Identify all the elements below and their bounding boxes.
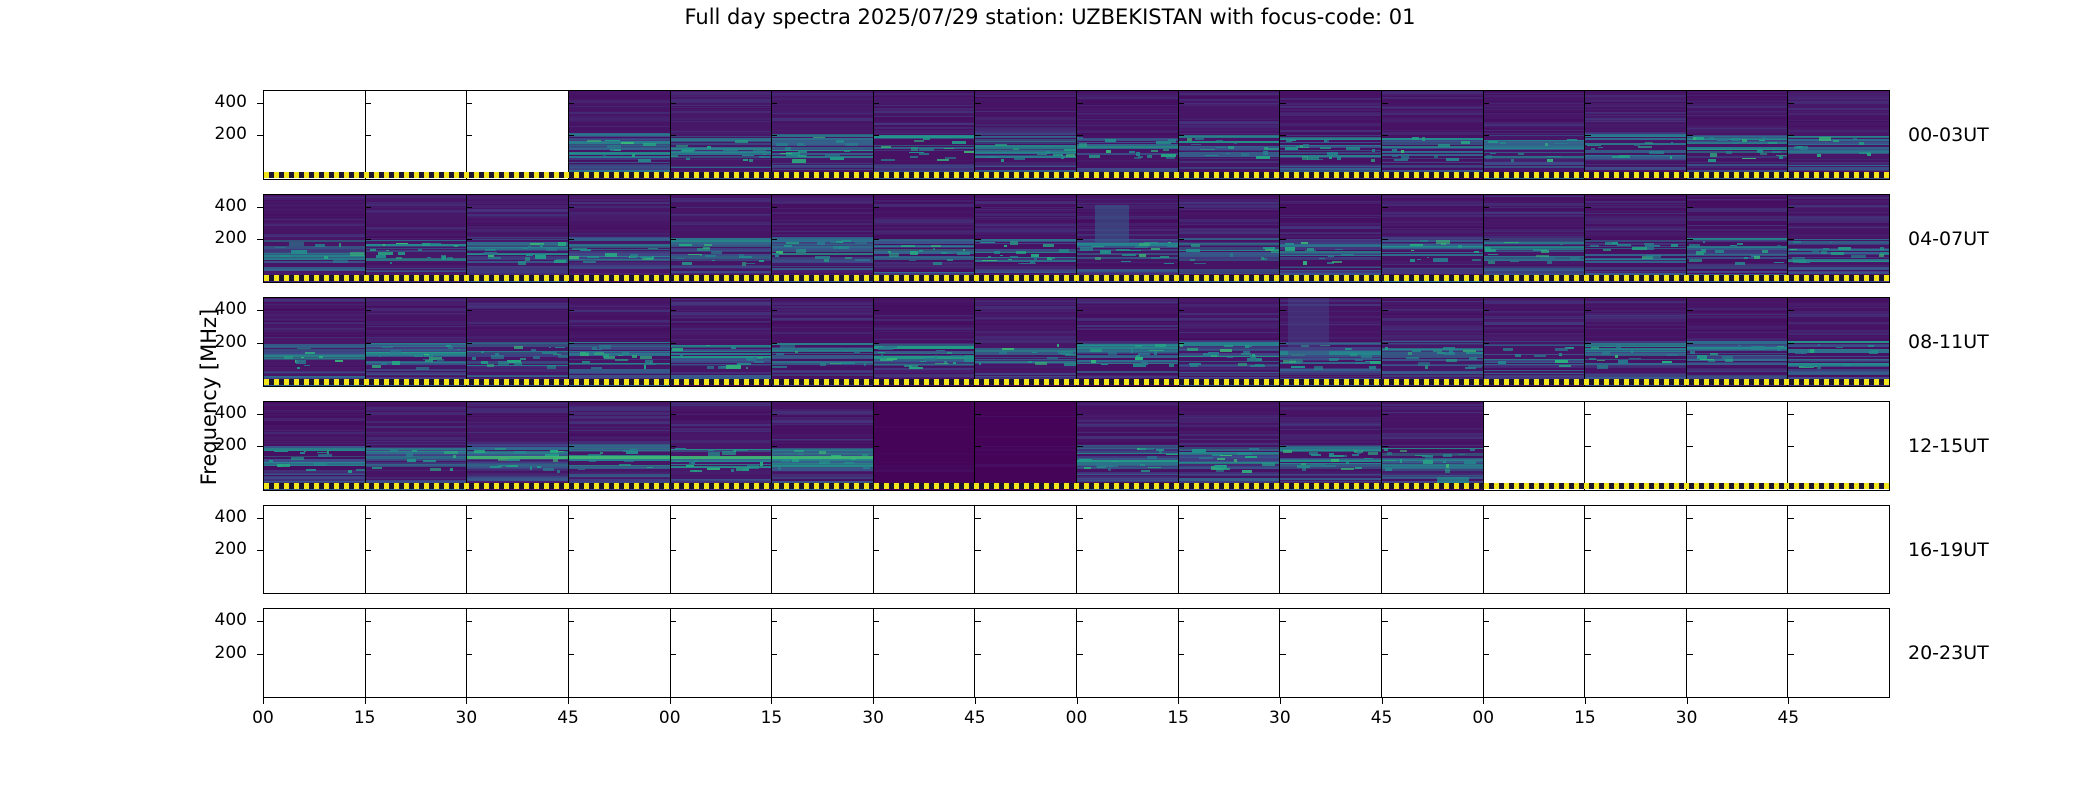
spectra-panel[interactable] — [1280, 506, 1382, 594]
spectra-panel[interactable] — [467, 402, 569, 490]
x-tick-mark — [975, 698, 976, 704]
panel-tick-nub — [568, 446, 574, 447]
panel-tick-nub — [1382, 550, 1388, 551]
y-tick-label: 200 — [187, 126, 247, 143]
panel-tick-nub — [466, 239, 472, 240]
x-tick-label: 15 — [1148, 710, 1208, 727]
spectra-panel[interactable] — [1280, 402, 1382, 490]
panel-tick-nub — [873, 518, 879, 519]
spectra-panel[interactable] — [467, 609, 569, 697]
y-tick-label: 200 — [187, 645, 247, 662]
spectra-panel[interactable] — [975, 609, 1077, 697]
spectra-panel[interactable] — [366, 609, 468, 697]
panel-tick-nub — [1585, 239, 1591, 240]
x-tick-mark — [1687, 698, 1688, 704]
panel-tick-nub — [1178, 207, 1184, 208]
panel-tick-nub — [1788, 550, 1794, 551]
panel-tick-nub — [1280, 518, 1286, 519]
panel-tick-nub — [873, 239, 879, 240]
spectra-panel[interactable] — [1585, 195, 1687, 283]
row-label-16-19ut: 16-19UT — [1908, 541, 1989, 560]
spectra-image — [772, 195, 873, 283]
panel-tick-nub — [771, 446, 777, 447]
spectra-image — [569, 402, 670, 490]
x-tick-mark — [568, 698, 569, 704]
panel-tick-nub — [365, 239, 371, 240]
spectra-panel[interactable] — [1484, 402, 1586, 490]
spectra-panel[interactable] — [1280, 298, 1382, 386]
spectra-panel[interactable] — [264, 195, 366, 283]
spectra-panel[interactable] — [264, 609, 366, 697]
panel-tick-nub — [1585, 135, 1591, 136]
spectra-panel[interactable] — [1382, 506, 1484, 594]
spectra-image — [1788, 298, 1889, 386]
spectra-image — [1382, 402, 1483, 490]
panel-tick-nub — [568, 310, 574, 311]
x-tick-mark — [1077, 698, 1078, 704]
spectra-panel[interactable] — [1585, 609, 1687, 697]
spectra-panel[interactable] — [1585, 298, 1687, 386]
spectra-panel[interactable] — [1280, 91, 1382, 179]
spectra-panel[interactable] — [1382, 402, 1484, 490]
panel-tick-nub — [1483, 621, 1489, 622]
panel-tick-nub — [771, 103, 777, 104]
y-tick-label: 400 — [187, 405, 247, 422]
panel-tick-nub — [1483, 414, 1489, 415]
spectra-panel[interactable] — [1382, 91, 1484, 179]
spectra-panel[interactable] — [467, 506, 569, 594]
panel-tick-nub — [975, 239, 981, 240]
spectra-image — [1280, 402, 1381, 490]
x-tick-mark — [1483, 698, 1484, 704]
panel-tick-nub — [1077, 518, 1083, 519]
spectra-panel[interactable] — [772, 195, 874, 283]
panel-tick-nub — [771, 654, 777, 655]
y-tick-mark — [257, 550, 263, 551]
x-tick-label: 00 — [640, 710, 700, 727]
spectra-image — [1484, 195, 1585, 283]
spectra-panel[interactable] — [467, 195, 569, 283]
spectra-panel[interactable] — [975, 195, 1077, 283]
spectra-panel[interactable] — [874, 506, 976, 594]
spectra-panel[interactable] — [1788, 195, 1889, 283]
panel-tick-nub — [365, 310, 371, 311]
data-availability-marker-bar — [264, 172, 1889, 178]
spectra-panel[interactable] — [366, 91, 468, 179]
spectra-image — [975, 298, 1076, 386]
spectra-panel[interactable] — [569, 402, 671, 490]
spectra-image — [1788, 195, 1889, 283]
panel-tick-nub — [1585, 207, 1591, 208]
spectra-panel[interactable] — [1788, 506, 1889, 594]
spectra-image — [874, 402, 975, 490]
panel-tick-nub — [365, 414, 371, 415]
spectra-panel[interactable] — [874, 195, 976, 283]
panel-tick-nub — [1077, 621, 1083, 622]
spectra-panel[interactable] — [975, 91, 1077, 179]
spectra-panel[interactable] — [1484, 91, 1586, 179]
panel-tick-nub — [1585, 446, 1591, 447]
spectra-panel[interactable] — [1585, 402, 1687, 490]
spectra-panel[interactable] — [1179, 298, 1281, 386]
spectra-panel[interactable] — [1687, 609, 1789, 697]
panel-tick-nub — [1280, 310, 1286, 311]
y-tick-mark — [257, 343, 263, 344]
y-tick-label: 200 — [187, 437, 247, 454]
spectra-image — [1382, 91, 1483, 179]
spectra-panel[interactable] — [671, 609, 773, 697]
panel-tick-nub — [568, 239, 574, 240]
spectra-panel[interactable] — [671, 402, 773, 490]
panel-tick-nub — [1178, 310, 1184, 311]
spectra-panel[interactable] — [569, 91, 671, 179]
spectra-panel[interactable] — [366, 195, 468, 283]
spectra-panel[interactable] — [671, 195, 773, 283]
spectra-panel[interactable] — [1484, 609, 1586, 697]
y-tick-label: 400 — [187, 301, 247, 318]
data-availability-marker-bar — [264, 483, 1889, 489]
y-tick-label: 400 — [187, 509, 247, 526]
panel-tick-nub — [1483, 135, 1489, 136]
panel-tick-nub — [1788, 135, 1794, 136]
data-availability-marker-bar — [264, 275, 1889, 281]
spectra-panel[interactable] — [1687, 298, 1789, 386]
panel-tick-nub — [1788, 654, 1794, 655]
spectra-image — [1077, 298, 1178, 386]
spectra-panel[interactable] — [569, 506, 671, 594]
panel-tick-nub — [1178, 135, 1184, 136]
spectra-panel[interactable] — [1077, 402, 1179, 490]
panel-tick-nub — [568, 343, 574, 344]
panel-tick-nub — [771, 621, 777, 622]
spectra-panel[interactable] — [1077, 91, 1179, 179]
spectra-panel[interactable] — [975, 506, 1077, 594]
panel-tick-nub — [1280, 654, 1286, 655]
panel-tick-nub — [771, 310, 777, 311]
panel-tick-nub — [873, 103, 879, 104]
panel-tick-nub — [1687, 654, 1693, 655]
panel-tick-nub — [1077, 103, 1083, 104]
panel-tick-nub — [1382, 518, 1388, 519]
spectra-panel[interactable] — [1788, 402, 1889, 490]
panel-tick-nub — [670, 135, 676, 136]
panel-tick-nub — [1788, 207, 1794, 208]
spectra-image — [1179, 298, 1280, 386]
panel-tick-nub — [365, 621, 371, 622]
spectra-panel[interactable] — [1687, 402, 1789, 490]
spectra-panel[interactable] — [671, 298, 773, 386]
panel-tick-nub — [975, 135, 981, 136]
y-tick-mark — [257, 446, 263, 447]
spectra-panel[interactable] — [264, 91, 366, 179]
spectra-image — [366, 402, 467, 490]
panel-tick-nub — [1280, 135, 1286, 136]
spectra-panel[interactable] — [467, 91, 569, 179]
panel-tick-nub — [1788, 414, 1794, 415]
panel-tick-nub — [1077, 310, 1083, 311]
panel-tick-nub — [1382, 239, 1388, 240]
panel-tick-nub — [670, 310, 676, 311]
spectra-image — [467, 402, 568, 490]
panel-tick-nub — [1382, 654, 1388, 655]
spectra-image — [1585, 298, 1686, 386]
spectra-panel[interactable] — [772, 91, 874, 179]
panel-tick-nub — [1178, 550, 1184, 551]
x-tick-mark — [1280, 698, 1281, 704]
panel-tick-nub — [466, 103, 472, 104]
panel-tick-nub — [466, 343, 472, 344]
spectra-panel[interactable] — [1382, 195, 1484, 283]
panel-tick-nub — [466, 518, 472, 519]
panel-tick-nub — [975, 518, 981, 519]
panel-tick-nub — [1077, 414, 1083, 415]
spectra-image — [1280, 298, 1381, 386]
spectra-image — [975, 195, 1076, 283]
spectra-image — [569, 298, 670, 386]
spectra-image — [366, 195, 467, 283]
panel-tick-nub — [365, 518, 371, 519]
spectra-panel[interactable] — [874, 91, 976, 179]
x-tick-label: 45 — [945, 710, 1005, 727]
spectra-image — [366, 298, 467, 386]
spectra-panel[interactable] — [772, 402, 874, 490]
panel-tick-nub — [975, 550, 981, 551]
spectra-image — [1077, 91, 1178, 179]
panel-tick-nub — [1687, 621, 1693, 622]
x-tick-label: 15 — [1555, 710, 1615, 727]
panel-tick-nub — [1788, 343, 1794, 344]
spectra-panel[interactable] — [264, 298, 366, 386]
panel-tick-nub — [771, 207, 777, 208]
spectra-panel[interactable] — [1788, 298, 1889, 386]
spectra-panel[interactable] — [1179, 91, 1281, 179]
x-tick-label: 00 — [233, 710, 293, 727]
spectra-image — [1179, 91, 1280, 179]
spectra-panel[interactable] — [975, 402, 1077, 490]
spectra-panel[interactable] — [366, 402, 468, 490]
spectra-image — [1788, 91, 1889, 179]
panel-tick-nub — [1483, 239, 1489, 240]
spectra-image — [1280, 195, 1381, 283]
y-tick-mark — [257, 239, 263, 240]
panel-tick-nub — [568, 550, 574, 551]
panel-tick-nub — [670, 414, 676, 415]
spectra-panel[interactable] — [1280, 609, 1382, 697]
panel-tick-nub — [1382, 414, 1388, 415]
y-tick-mark — [257, 414, 263, 415]
panel-tick-nub — [873, 446, 879, 447]
panel-tick-nub — [975, 654, 981, 655]
panel-tick-nub — [466, 135, 472, 136]
spectra-image — [1484, 298, 1585, 386]
panel-tick-nub — [1382, 446, 1388, 447]
spectra-panel[interactable] — [975, 298, 1077, 386]
x-tick-mark — [466, 698, 467, 704]
spectra-panel[interactable] — [1585, 506, 1687, 594]
spectra-panel[interactable] — [264, 506, 366, 594]
panel-tick-nub — [466, 446, 472, 447]
panel-tick-nub — [1585, 310, 1591, 311]
row-label-08-11ut: 08-11UT — [1908, 333, 1989, 352]
panel-tick-nub — [670, 518, 676, 519]
panel-tick-nub — [1280, 446, 1286, 447]
x-tick-label: 15 — [741, 710, 801, 727]
spectra-image — [1687, 91, 1788, 179]
panel-tick-nub — [1178, 239, 1184, 240]
spectra-panel[interactable] — [264, 402, 366, 490]
spectra-panel[interactable] — [1179, 402, 1281, 490]
spectra-panel[interactable] — [772, 506, 874, 594]
spectra-panel[interactable] — [1179, 506, 1281, 594]
panel-tick-nub — [365, 550, 371, 551]
spectra-panel[interactable] — [874, 298, 976, 386]
panel-tick-nub — [1280, 207, 1286, 208]
spectra-panel[interactable] — [1687, 91, 1789, 179]
spectra-image — [1077, 195, 1178, 283]
panel-tick-nub — [1077, 135, 1083, 136]
panel-tick-nub — [873, 621, 879, 622]
y-tick-mark — [257, 103, 263, 104]
panel-tick-nub — [1382, 343, 1388, 344]
spectra-image — [975, 402, 1076, 490]
panel-tick-nub — [975, 621, 981, 622]
spectra-panel[interactable] — [1077, 298, 1179, 386]
spectra-panel[interactable] — [1382, 298, 1484, 386]
row-label-20-23ut: 20-23UT — [1908, 644, 1989, 663]
panel-tick-nub — [1280, 343, 1286, 344]
spectra-panel[interactable] — [772, 298, 874, 386]
panel-tick-nub — [873, 207, 879, 208]
spectra-image — [874, 91, 975, 179]
panel-tick-nub — [1077, 446, 1083, 447]
spectra-image — [1687, 298, 1788, 386]
panel-tick-nub — [873, 343, 879, 344]
panel-tick-nub — [1585, 518, 1591, 519]
panel-tick-nub — [873, 135, 879, 136]
spectra-image — [671, 402, 772, 490]
spectra-panel[interactable] — [671, 91, 773, 179]
spectra-panel[interactable] — [467, 298, 569, 386]
spectra-panel[interactable] — [569, 195, 671, 283]
panel-tick-nub — [1788, 239, 1794, 240]
panel-tick-nub — [771, 550, 777, 551]
spectra-image — [671, 195, 772, 283]
spectra-image — [1077, 402, 1178, 490]
spectra-image — [264, 402, 365, 490]
spectra-image — [1382, 195, 1483, 283]
spectra-panel[interactable] — [1179, 195, 1281, 283]
spectra-panel[interactable] — [1179, 609, 1281, 697]
panel-tick-nub — [670, 550, 676, 551]
panel-tick-nub — [1483, 550, 1489, 551]
panel-tick-nub — [873, 414, 879, 415]
x-tick-label: 45 — [1352, 710, 1412, 727]
x-tick-mark — [1382, 698, 1383, 704]
x-tick-label: 00 — [1453, 710, 1513, 727]
spectra-panel[interactable] — [1077, 609, 1179, 697]
panel-tick-nub — [1687, 135, 1693, 136]
spectra-panel[interactable] — [772, 609, 874, 697]
spectra-panel[interactable] — [1077, 506, 1179, 594]
spectra-image — [569, 91, 670, 179]
panel-tick-nub — [873, 310, 879, 311]
row-label-12-15ut: 12-15UT — [1908, 437, 1989, 456]
panel-tick-nub — [466, 310, 472, 311]
y-tick-mark — [257, 310, 263, 311]
panel-tick-nub — [568, 207, 574, 208]
panel-tick-nub — [1687, 239, 1693, 240]
panel-tick-nub — [1077, 343, 1083, 344]
panel-tick-nub — [1280, 550, 1286, 551]
spectra-panel[interactable] — [1788, 609, 1889, 697]
spectra-panel[interactable] — [1585, 91, 1687, 179]
panel-tick-nub — [568, 103, 574, 104]
spectra-image — [671, 91, 772, 179]
spectra-image — [569, 195, 670, 283]
x-tick-label: 15 — [335, 710, 395, 727]
spectra-image — [772, 91, 873, 179]
panel-tick-nub — [1687, 550, 1693, 551]
panel-tick-nub — [1077, 239, 1083, 240]
panel-tick-nub — [1280, 621, 1286, 622]
panel-tick-nub — [771, 343, 777, 344]
panel-tick-nub — [1382, 621, 1388, 622]
spectra-panel[interactable] — [366, 506, 468, 594]
x-tick-mark — [1585, 698, 1586, 704]
y-tick-mark — [257, 654, 263, 655]
spectra-panel[interactable] — [569, 609, 671, 697]
spectra-panel[interactable] — [569, 298, 671, 386]
spectra-panel[interactable] — [1687, 506, 1789, 594]
panel-tick-nub — [568, 621, 574, 622]
spectra-panel[interactable] — [1788, 91, 1889, 179]
panel-tick-nub — [670, 103, 676, 104]
spectra-image — [1179, 402, 1280, 490]
panel-tick-nub — [1788, 103, 1794, 104]
spectra-panel[interactable] — [1077, 195, 1179, 283]
spectra-panel[interactable] — [874, 609, 976, 697]
panel-tick-nub — [975, 310, 981, 311]
spectra-image — [874, 298, 975, 386]
y-tick-label: 200 — [187, 230, 247, 247]
panel-tick-nub — [1788, 621, 1794, 622]
spectra-panel[interactable] — [1280, 195, 1382, 283]
panel-tick-nub — [1077, 550, 1083, 551]
spectra-panel[interactable] — [1484, 298, 1586, 386]
panel-tick-nub — [1178, 654, 1184, 655]
spectra-panel[interactable] — [1484, 506, 1586, 594]
y-tick-mark — [257, 518, 263, 519]
spectra-panel[interactable] — [1484, 195, 1586, 283]
spectra-image — [264, 298, 365, 386]
panel-tick-nub — [1483, 207, 1489, 208]
spectra-panel[interactable] — [671, 506, 773, 594]
spectra-panel[interactable] — [1687, 195, 1789, 283]
spectra-panel[interactable] — [366, 298, 468, 386]
panel-tick-nub — [1280, 103, 1286, 104]
spectra-image — [467, 195, 568, 283]
panel-tick-nub — [1687, 518, 1693, 519]
spectra-panel[interactable] — [874, 402, 976, 490]
panel-tick-nub — [466, 414, 472, 415]
panel-tick-nub — [466, 550, 472, 551]
x-tick-label: 45 — [1758, 710, 1818, 727]
panel-tick-nub — [1280, 414, 1286, 415]
panel-tick-nub — [1687, 103, 1693, 104]
spectra-panel[interactable] — [1382, 609, 1484, 697]
x-tick-mark — [771, 698, 772, 704]
spectra-image — [1484, 91, 1585, 179]
